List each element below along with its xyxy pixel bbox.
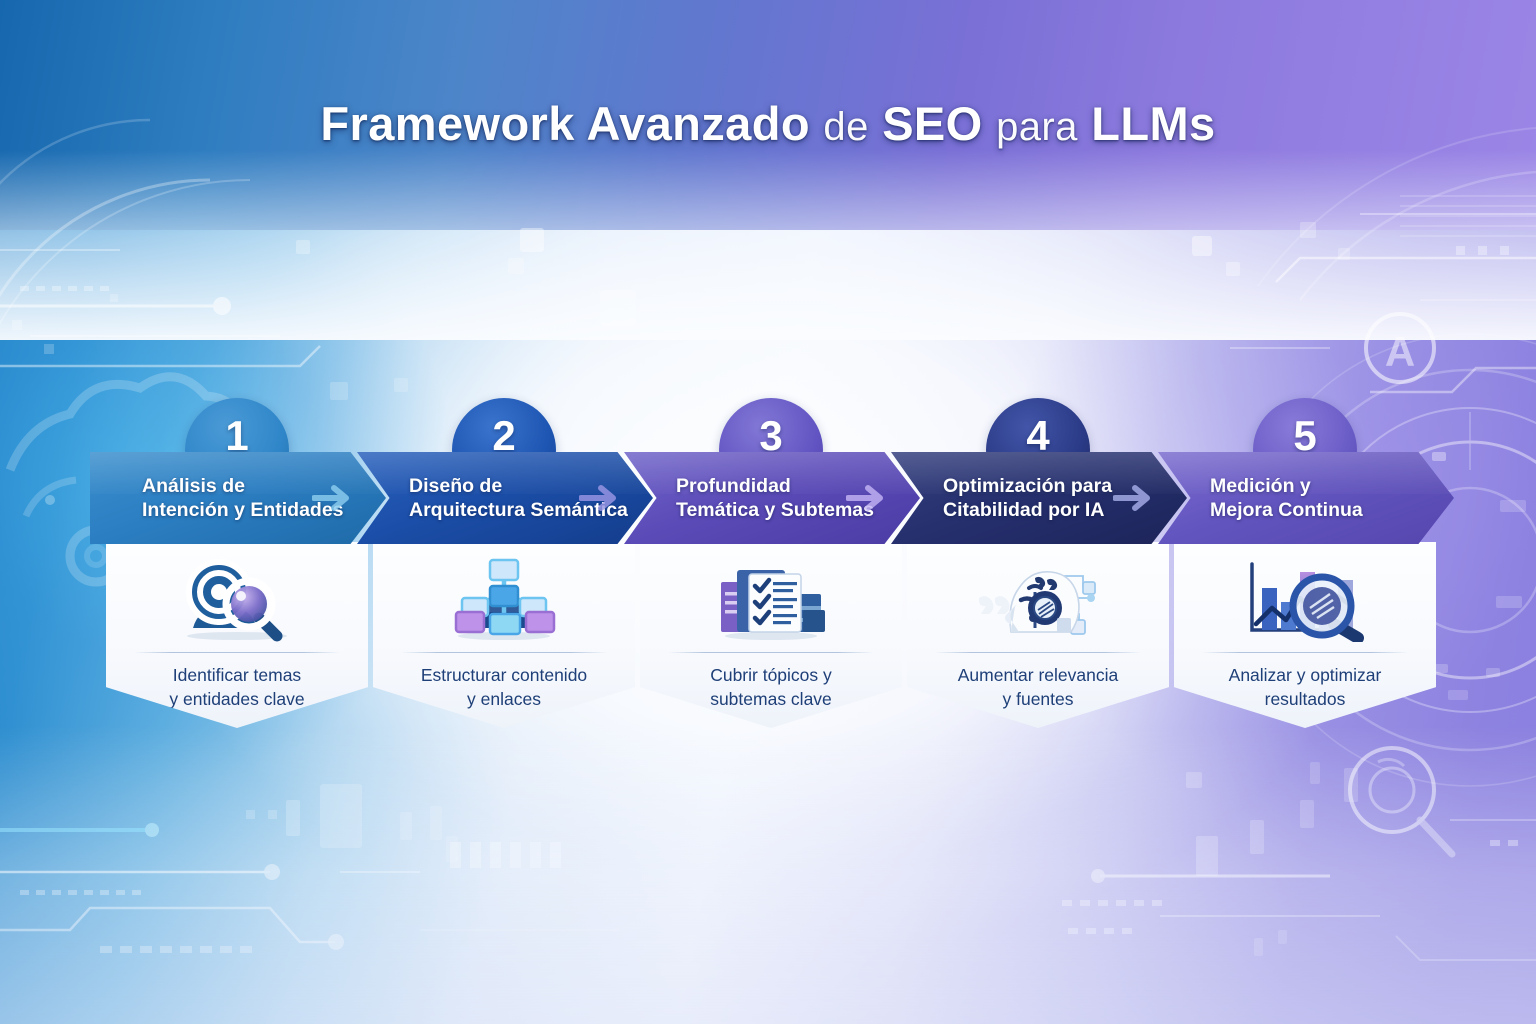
step-5-title-line1: Medición y (1210, 475, 1311, 498)
title-part-2: de (823, 105, 868, 149)
step-4[interactable]: 4 Optimización para Citabilidad por IA (905, 396, 1171, 736)
step-1-arrow-icon (312, 483, 360, 513)
step-4-title-line2: Citabilidad por IA (943, 499, 1104, 522)
step-2-card: Estructurar contenido y enlaces (373, 542, 635, 728)
step-3-caption-line1: Cubrir tópicos y (710, 665, 832, 685)
step-5-card: Analizar y optimizar resultados (1174, 542, 1436, 728)
background-bottom-fade (0, 724, 1536, 1024)
checklist-documents-icon (707, 554, 835, 642)
step-3-divider (668, 652, 874, 653)
step-2-header[interactable]: Diseño de Arquitectura Semántica (357, 452, 653, 544)
page-title: Framework Avanzado de SEO para LLMs (320, 96, 1215, 151)
target-magnifier-icon (173, 554, 301, 642)
step-1-caption-line2: y entidades clave (116, 688, 358, 712)
svg-text:A: A (1385, 328, 1415, 375)
step-4-divider (935, 652, 1141, 653)
step-2-icon-area (373, 550, 635, 646)
title-part-4: para (996, 105, 1078, 149)
step-1-title-line1: Análisis de (142, 475, 245, 498)
step-2-divider (401, 652, 607, 653)
step-4-arrow-icon (1113, 483, 1161, 513)
step-4-caption: Aumentar relevancia y fuentes (917, 664, 1159, 712)
step-4-title-line1: Optimización para (943, 475, 1112, 498)
step-4-caption-line1: Aumentar relevancia (958, 665, 1119, 685)
step-5-caption: Analizar y optimizar resultados (1184, 664, 1426, 712)
step-3-card: Cubrir tópicos y subtemas clave (640, 542, 902, 728)
step-3-title-line2: Temática y Subtemas (676, 499, 874, 522)
title-part-5: LLMs (1091, 97, 1215, 150)
step-5-number: 5 (1293, 415, 1316, 457)
step-3-title-line1: Profundidad (676, 475, 791, 498)
step-5-caption-line2: resultados (1184, 688, 1426, 712)
step-2-caption: Estructurar contenido y enlaces (383, 664, 625, 712)
step-5-divider (1202, 652, 1408, 653)
step-4-caption-line2: y fuentes (917, 688, 1159, 712)
step-2-arrow-icon (579, 483, 627, 513)
title-area: Framework Avanzado de SEO para LLMs (0, 96, 1536, 151)
step-1-divider (134, 652, 340, 653)
process-flow: 1 Análisis de Intención y Entidades (104, 396, 1440, 736)
step-1[interactable]: 1 Análisis de Intención y Entidades (104, 396, 370, 736)
step-4-header[interactable]: Optimización para Citabilidad por IA (891, 452, 1187, 544)
step-3-caption-line2: subtemas clave (650, 688, 892, 712)
step-5-title-line2: Mejora Continua (1210, 499, 1363, 522)
step-3-number: 3 (759, 415, 782, 457)
step-4-number: 4 (1026, 415, 1049, 457)
step-5-caption-line1: Analizar y optimizar (1229, 665, 1382, 685)
title-part-3: SEO (882, 97, 982, 150)
step-4-icon-area (907, 550, 1169, 646)
step-5-icon-area (1174, 550, 1436, 646)
step-5[interactable]: 5 Medición y Mejora Continua (1172, 396, 1438, 736)
infographic-canvas: A Framework Avanzado de SEO para LLMs 1 … (0, 0, 1536, 1024)
step-2-title-line1: Diseño de (409, 475, 502, 498)
step-1-card: Identificar temas y entidades clave (106, 542, 368, 728)
step-4-card: Aumentar relevancia y fuentes (907, 542, 1169, 728)
step-3-caption: Cubrir tópicos y subtemas clave (650, 664, 892, 712)
step-2[interactable]: 2 Diseño de Arquitectura Semántica (371, 396, 637, 736)
step-1-caption-line1: Identificar temas (173, 665, 301, 685)
step-3[interactable]: 3 Profundidad Temática y Subtemas (638, 396, 904, 736)
step-1-caption: Identificar temas y entidades clave (116, 664, 358, 712)
step-1-header[interactable]: Análisis de Intención y Entidades (90, 452, 386, 544)
ai-head-quote-icon (971, 554, 1105, 642)
step-3-icon-area (640, 550, 902, 646)
chart-magnifier-icon (1238, 554, 1372, 642)
step-1-number: 1 (225, 415, 248, 457)
node-network-icon (440, 554, 568, 642)
step-2-number: 2 (492, 415, 515, 457)
title-part-1: Framework Avanzado (320, 97, 810, 150)
step-2-caption-line1: Estructurar contenido (421, 665, 587, 685)
a-badge-icon: A (1366, 314, 1434, 382)
step-5-header[interactable]: Medición y Mejora Continua (1158, 452, 1454, 544)
step-3-header[interactable]: Profundidad Temática y Subtemas (624, 452, 920, 544)
step-3-arrow-icon (846, 483, 894, 513)
step-1-icon-area (106, 550, 368, 646)
step-2-caption-line2: y enlaces (383, 688, 625, 712)
